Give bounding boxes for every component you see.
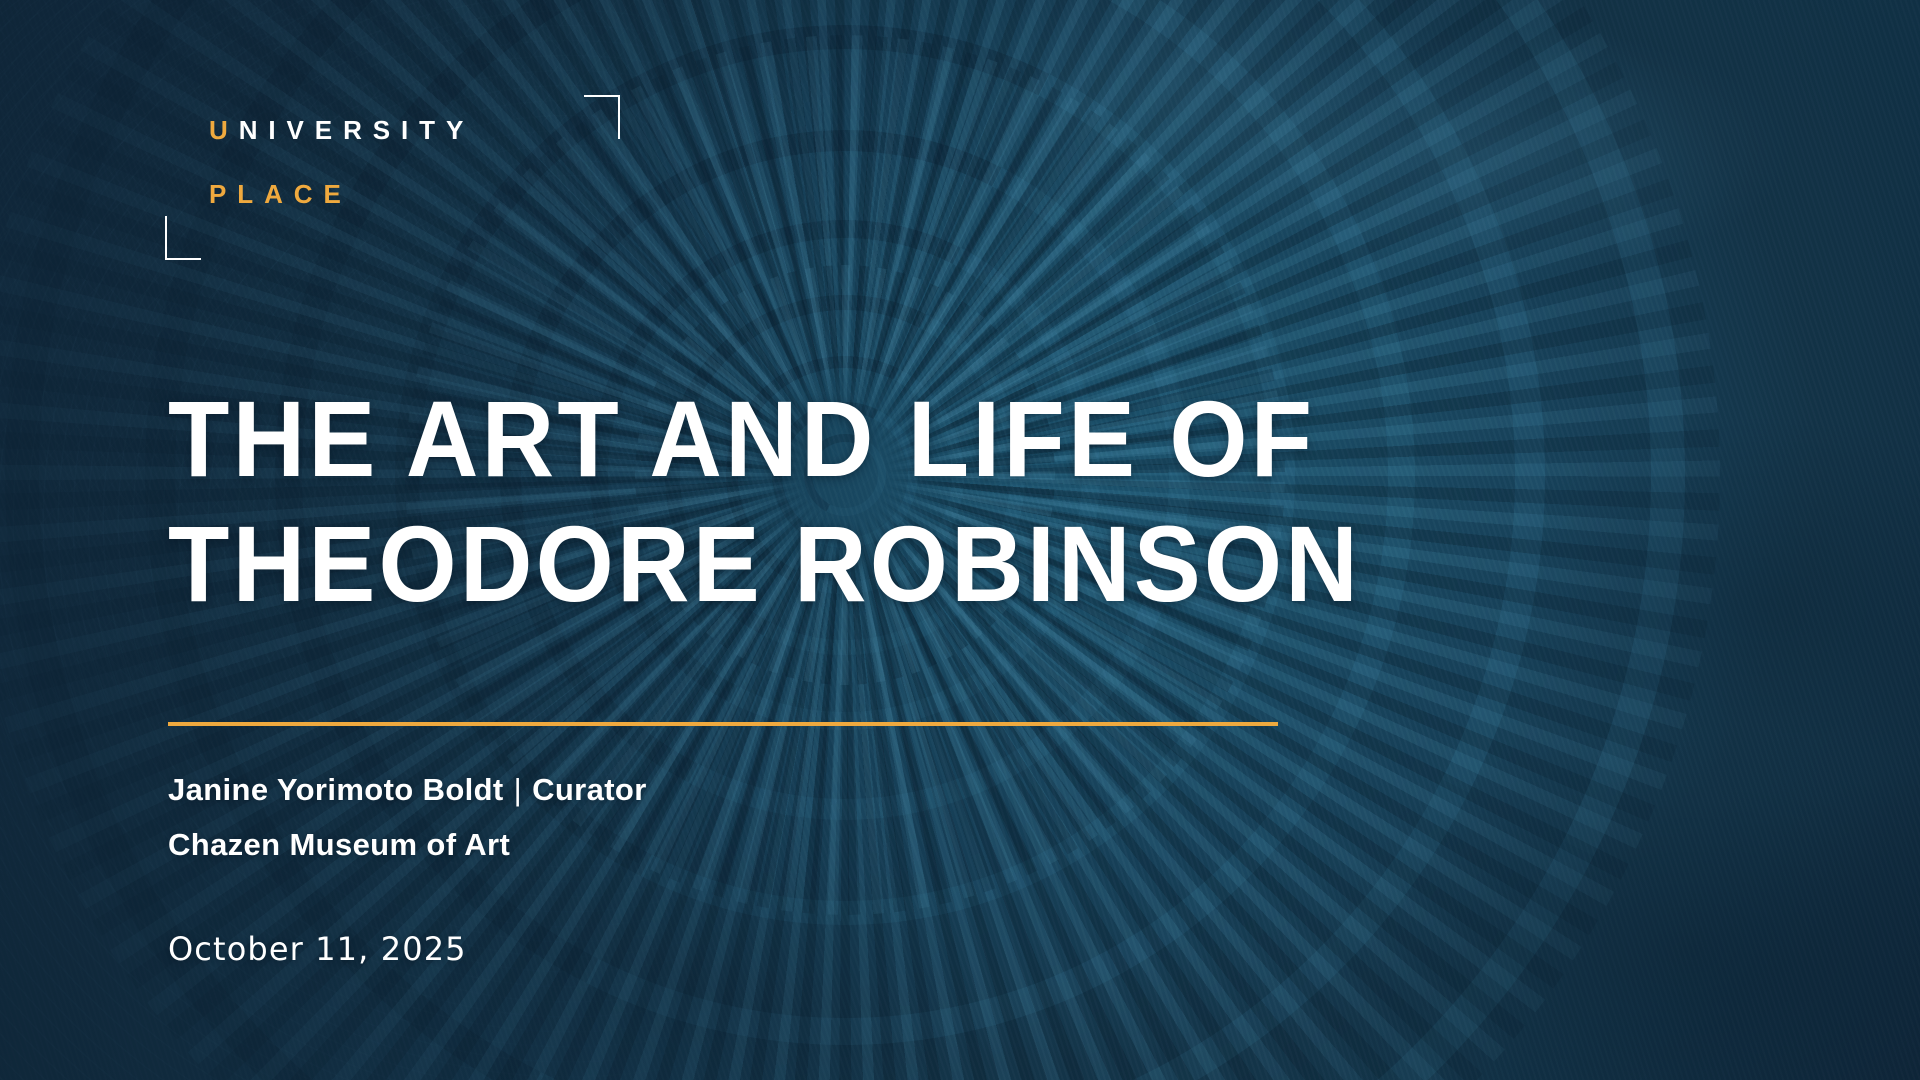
slide-title: THE ART AND LIFE OF THEODORE ROBINSON bbox=[168, 376, 1470, 627]
title-slide: UNIVERSITY PLACE THE ART AND LIFE OF THE… bbox=[0, 0, 1920, 1080]
orange-divider-rule bbox=[168, 722, 1278, 726]
logo-line-university-rest: NIVERSITY bbox=[239, 115, 475, 145]
slide-title-line-2: THEODORE ROBINSON bbox=[168, 501, 1470, 626]
presenter-role: Curator bbox=[532, 772, 647, 807]
logo-line-place: PLACE bbox=[209, 179, 352, 210]
corner-bracket-top-right-icon bbox=[584, 95, 620, 139]
credits-separator: | bbox=[504, 772, 532, 807]
logo-accent-letter: U bbox=[209, 115, 239, 145]
logo-line-university: UNIVERSITY bbox=[209, 115, 474, 146]
event-date: October 11, 2025 bbox=[168, 930, 467, 968]
slide-title-line-1: THE ART AND LIFE OF bbox=[168, 376, 1470, 501]
presenter-credits: Janine Yorimoto Boldt|Curator Chazen Mus… bbox=[168, 762, 647, 872]
presenter-line: Janine Yorimoto Boldt|Curator bbox=[168, 762, 647, 817]
presenter-name: Janine Yorimoto Boldt bbox=[168, 772, 504, 807]
university-place-logo[interactable]: UNIVERSITY PLACE bbox=[165, 95, 620, 260]
presenter-institution: Chazen Museum of Art bbox=[168, 817, 647, 872]
corner-bracket-bottom-left-icon bbox=[165, 216, 201, 260]
